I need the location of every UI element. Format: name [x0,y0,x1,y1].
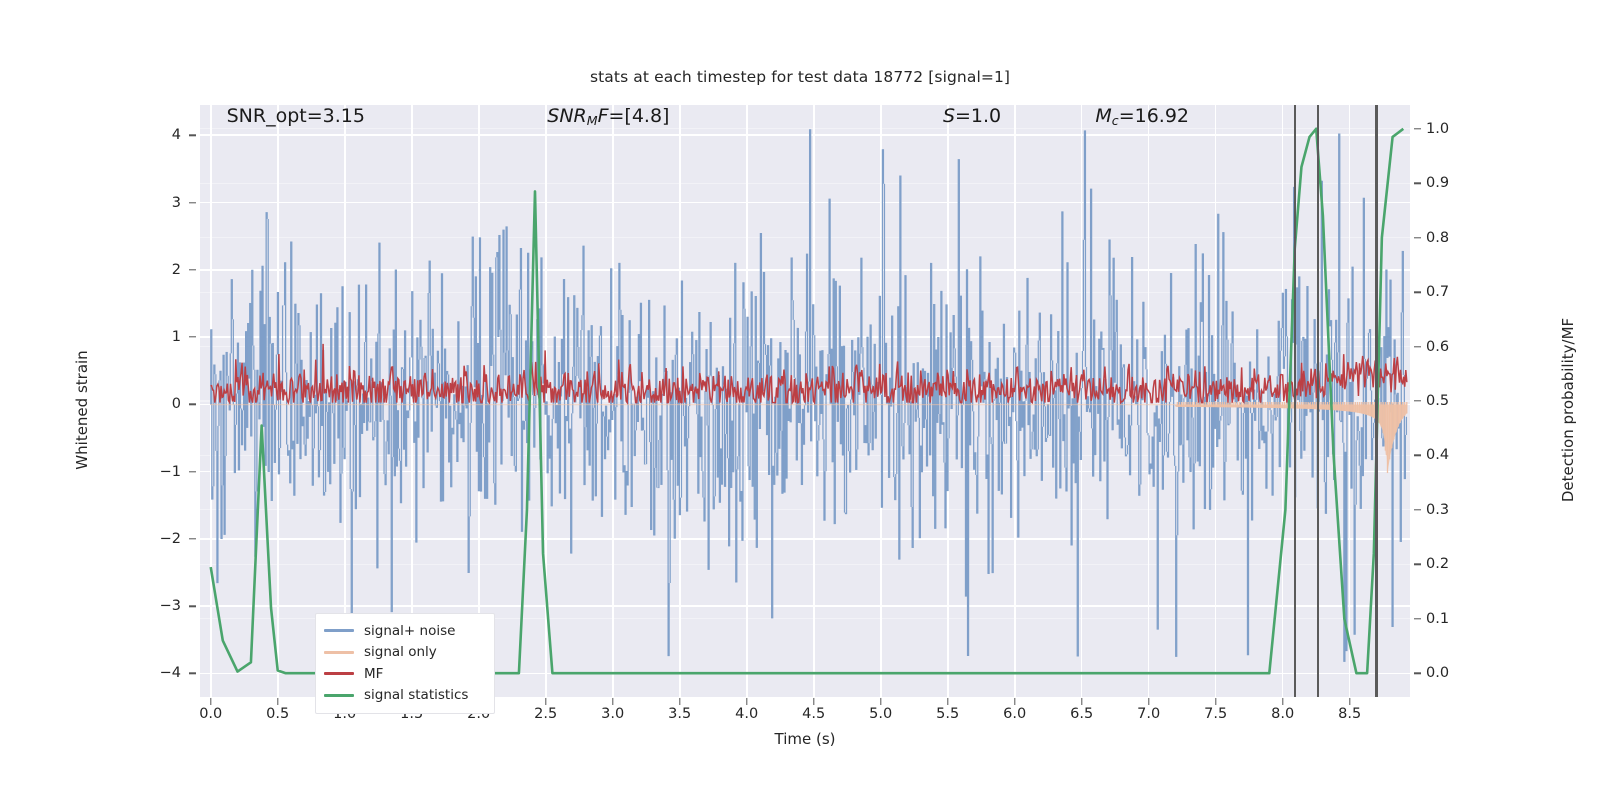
x-tick-label: 7.5 [1186,706,1246,722]
y-tick-label-right: 0.5 [1426,393,1486,409]
legend-item-signal-statistics[interactable]: signal statistics [324,685,486,707]
legend-label-signal-noise: signal+ noise [364,623,455,639]
x-tick [679,698,680,705]
x-tick-label: 4.5 [784,706,844,722]
x-tick [746,698,747,705]
y-tick-label-left: −1 [126,464,181,480]
y-tick-label-left: −2 [126,531,181,547]
x-tick-label: 7.0 [1119,706,1179,722]
annotation-mchirp: Mc=16.92 [1095,105,1189,128]
x-tick-label: 3.5 [650,706,710,722]
y-tick-left [189,135,196,136]
event-marker-line-1 [1294,105,1296,697]
y-tick-right [1414,237,1421,238]
legend-item-signal-only[interactable]: signal only [324,642,486,664]
legend-label-signal-only: signal only [364,644,437,660]
y-tick-right [1414,618,1421,619]
event-marker-line-2 [1317,105,1319,697]
legend[interactable]: signal+ noise signal only MF signal stat… [315,613,495,714]
y-tick-label-right: 0.2 [1426,556,1486,572]
figure-canvas: stats at each timestep for test data 187… [0,0,1600,800]
y-tick-left [189,471,196,472]
y-tick-label-left: 2 [126,262,181,278]
y-tick-left [189,269,196,270]
y-tick-left [189,605,196,606]
y-tick-label-right: 0.1 [1426,611,1486,627]
plot-area[interactable]: SNR_opt=3.15SNRMF=[4.8]S=1.0Mc=16.92 [200,105,1410,697]
legend-label-mf: MF [364,666,383,682]
y-tick-label-left: 3 [126,195,181,211]
y-tick-right [1414,291,1421,292]
y-axis-label-left: Whitened strain [73,250,91,570]
annotation-s: S=1.0 [943,105,1001,127]
x-tick [1148,698,1149,705]
y-tick-label-right: 1.0 [1426,121,1486,137]
y-tick-label-right: 0.4 [1426,447,1486,463]
y-tick-right [1414,673,1421,674]
x-tick [1081,698,1082,705]
y-tick-left [189,673,196,674]
y-tick-label-right: 0.8 [1426,230,1486,246]
y-tick-left [189,202,196,203]
x-tick-label: 6.5 [1052,706,1112,722]
annotation-snr-mf: SNRMF=[4.8] [547,105,669,128]
x-tick-label: 0.5 [248,706,308,722]
y-tick-label-left: 0 [126,396,181,412]
legend-swatch-mf [324,672,354,675]
x-tick [1215,698,1216,705]
x-tick [612,698,613,705]
x-tick [1349,698,1350,705]
y-tick-right [1414,400,1421,401]
annotation-snr-opt: SNR_opt=3.15 [227,105,365,127]
x-tick-label: 2.5 [516,706,576,722]
x-tick [813,698,814,705]
y-tick-label-right: 0.3 [1426,502,1486,518]
y-tick-left [189,404,196,405]
series-layer [200,105,1410,697]
x-tick [947,698,948,705]
x-tick-label: 5.5 [918,706,978,722]
y-tick-right [1414,564,1421,565]
x-tick-label: 3.0 [583,706,643,722]
x-tick [1014,698,1015,705]
x-tick-label: 8.5 [1320,706,1380,722]
x-tick-label: 8.0 [1253,706,1313,722]
y-tick-label-right: 0.7 [1426,284,1486,300]
legend-swatch-signal-noise [324,629,354,632]
y-axis-label-right: Detection probability/MF [1559,220,1577,600]
y-tick-label-right: 0.6 [1426,339,1486,355]
x-tick [277,698,278,705]
y-tick-right [1414,346,1421,347]
x-tick-label: 4.0 [717,706,777,722]
x-tick [545,698,546,705]
y-tick-label-left: 4 [126,127,181,143]
legend-label-signal-statistics: signal statistics [364,687,468,703]
y-tick-label-left: 1 [126,329,181,345]
x-tick [880,698,881,705]
y-tick-label-left: −3 [126,598,181,614]
legend-item-signal-noise[interactable]: signal+ noise [324,620,486,642]
y-tick-right [1414,183,1421,184]
x-tick [1282,698,1283,705]
x-tick [210,698,211,705]
y-tick-right [1414,509,1421,510]
y-tick-right [1414,455,1421,456]
figure-title: stats at each timestep for test data 187… [0,68,1600,86]
x-tick-label: 0.0 [181,706,241,722]
y-tick-left [189,336,196,337]
legend-swatch-signal-statistics [324,694,354,697]
event-marker-line-3 [1375,105,1377,697]
y-tick-label-right: 0.9 [1426,175,1486,191]
legend-swatch-signal-only [324,651,354,654]
x-tick-label: 5.0 [851,706,911,722]
y-tick-label-left: −4 [126,665,181,681]
y-tick-right [1414,128,1421,129]
x-axis-label: Time (s) [200,730,1410,748]
legend-item-mf[interactable]: MF [324,663,486,685]
y-tick-left [189,538,196,539]
x-tick-label: 6.0 [985,706,1045,722]
y-tick-label-right: 0.0 [1426,665,1486,681]
